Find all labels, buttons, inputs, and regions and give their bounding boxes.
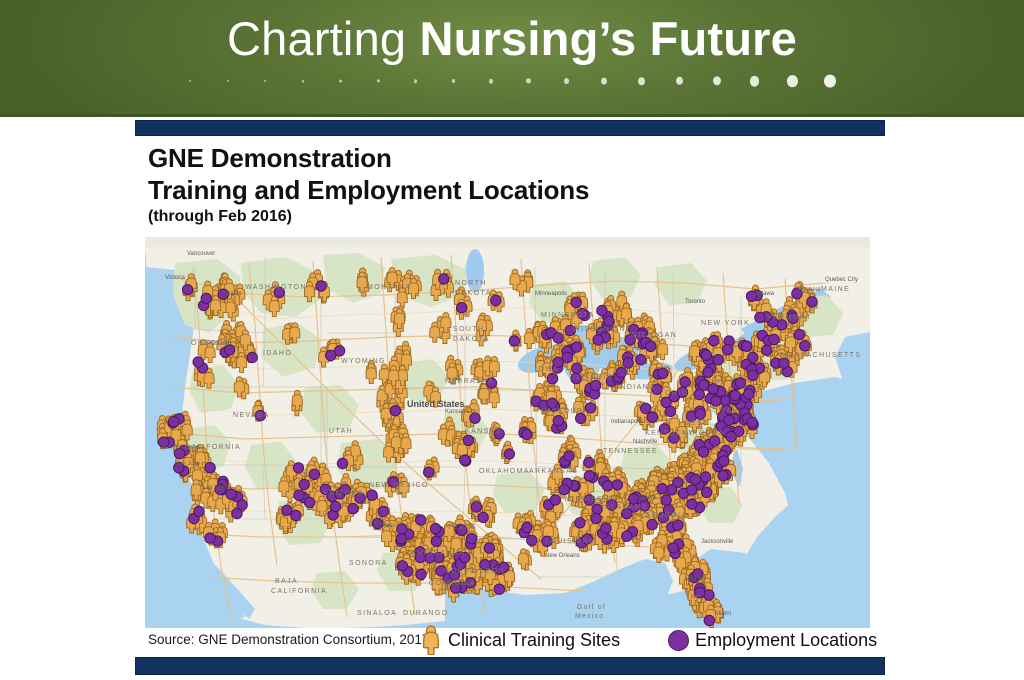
employment-location-marker[interactable] (690, 474, 700, 484)
slide-body: GNE Demonstration Training and Employmen… (0, 117, 1024, 680)
map-canvas: Vancouver Victoria Seattle Portland San … (145, 237, 870, 628)
svg-text:Montreal: Montreal (797, 287, 820, 293)
employment-location-marker[interactable] (205, 463, 215, 473)
svg-text:El Paso: El Paso (375, 523, 396, 529)
employment-location-marker[interactable] (553, 416, 563, 426)
svg-text:OHIO: OHIO (665, 390, 689, 397)
svg-text:New Orleans: New Orleans (545, 553, 580, 559)
employment-location-marker[interactable] (622, 531, 632, 541)
employment-location-marker[interactable] (718, 471, 728, 481)
svg-text:Nashville: Nashville (633, 439, 658, 445)
employment-location-marker[interactable] (182, 285, 192, 295)
employment-location-marker[interactable] (612, 480, 622, 490)
employment-location-marker[interactable] (348, 503, 358, 513)
employment-location-marker[interactable] (747, 417, 757, 427)
employment-location-marker[interactable] (673, 520, 683, 530)
svg-text:IOWA: IOWA (535, 366, 559, 373)
employment-location-marker[interactable] (494, 584, 504, 594)
employment-location-marker[interactable] (641, 403, 651, 413)
employment-location-marker[interactable] (169, 416, 179, 426)
employment-location-marker[interactable] (665, 406, 675, 416)
employment-location-marker[interactable] (466, 533, 476, 543)
employment-location-marker[interactable] (680, 377, 690, 387)
svg-text:KANSAS: KANSAS (465, 428, 502, 435)
employment-location-marker[interactable] (316, 281, 326, 291)
svg-text:GEORGIA: GEORGIA (645, 512, 687, 519)
banner-title-light: Charting (227, 12, 406, 65)
employment-location-marker[interactable] (564, 451, 574, 461)
employment-location-marker[interactable] (695, 409, 705, 419)
svg-text:NORTH: NORTH (455, 280, 487, 287)
employment-location-marker[interactable] (390, 406, 400, 416)
svg-text:VERMONT: VERMONT (767, 314, 812, 321)
source-note: Source: GNE Demonstration Consortium, 20… (148, 632, 429, 647)
employment-location-marker[interactable] (735, 378, 745, 388)
employment-location-marker[interactable] (416, 515, 426, 525)
employment-location-marker[interactable] (484, 543, 494, 553)
legend-item-clinical-training: Clinical Training Sites (420, 625, 620, 655)
employment-location-marker[interactable] (205, 533, 215, 543)
employment-location-marker[interactable] (201, 293, 211, 303)
employment-location-marker[interactable] (193, 357, 203, 367)
employment-location-marker[interactable] (527, 535, 537, 545)
employment-location-marker[interactable] (604, 316, 614, 326)
svg-text:MONTANA: MONTANA (367, 284, 411, 291)
employment-location-marker[interactable] (237, 500, 247, 510)
employment-location-marker[interactable] (304, 497, 314, 507)
svg-text:Minneapolis: Minneapolis (535, 291, 567, 297)
employment-location-marker[interactable] (584, 457, 594, 467)
employment-location-marker[interactable] (601, 523, 611, 533)
employment-location-marker[interactable] (647, 412, 657, 422)
svg-text:MASSACHUSETTS: MASSACHUSETTS (781, 352, 861, 359)
employment-location-marker[interactable] (711, 396, 721, 406)
employment-location-marker[interactable] (730, 390, 740, 400)
employment-location-marker[interactable] (713, 355, 723, 365)
svg-text:VIRGINIA: VIRGINIA (683, 430, 725, 437)
svg-text:Jacksonville: Jacksonville (701, 539, 734, 545)
svg-text:WASHINGTON: WASHINGTON (245, 284, 307, 291)
employment-location-marker[interactable] (547, 374, 557, 384)
svg-text:Gulf of: Gulf of (577, 604, 606, 611)
legend-label-employment: Employment Locations (695, 630, 877, 651)
employment-location-marker[interactable] (710, 436, 720, 446)
page-subtitle: (through Feb 2016) (148, 207, 292, 227)
svg-text:Quebec City: Quebec City (825, 277, 858, 283)
banner-title-bold: Nursing’s Future (420, 12, 797, 65)
employment-location-marker[interactable] (636, 355, 646, 365)
banner-title: Charting Nursing’s Future (0, 13, 1024, 65)
slide-top-rule (135, 120, 885, 136)
svg-text:Ottawa: Ottawa (755, 291, 775, 297)
employment-location-marker[interactable] (591, 513, 601, 523)
employment-location-marker[interactable] (562, 352, 572, 362)
svg-text:UTAH: UTAH (329, 428, 353, 435)
employment-location-marker[interactable] (330, 501, 340, 511)
employment-location-marker[interactable] (723, 344, 733, 354)
svg-text:TENNESSEE: TENNESSEE (603, 448, 658, 455)
svg-text:Vancouver: Vancouver (187, 251, 215, 257)
svg-text:CALIFORNIA: CALIFORNIA (271, 588, 327, 595)
svg-text:NEBRASKA: NEBRASKA (445, 378, 494, 385)
svg-text:Kansas City: Kansas City (445, 409, 477, 415)
employment-location-marker[interactable] (478, 512, 488, 522)
employment-location-marker[interactable] (658, 368, 668, 378)
employment-location-marker[interactable] (694, 389, 704, 399)
employment-location-marker[interactable] (396, 534, 406, 544)
employment-location-marker[interactable] (700, 472, 710, 482)
employment-location-marker[interactable] (647, 519, 657, 529)
employment-location-marker[interactable] (337, 458, 347, 468)
svg-text:LOUISIANA: LOUISIANA (545, 538, 595, 545)
employment-location-marker[interactable] (661, 495, 671, 505)
pegman-person-icon (420, 625, 442, 655)
employment-location-marker[interactable] (585, 403, 595, 413)
employment-location-marker[interactable] (616, 367, 626, 377)
svg-text:TEXAS: TEXAS (447, 524, 477, 531)
employment-location-marker[interactable] (719, 456, 729, 466)
employment-location-marker[interactable] (309, 469, 319, 479)
svg-text:ILLINOIS: ILLINOIS (573, 374, 613, 381)
svg-text:IDAHO: IDAHO (263, 350, 292, 357)
svg-text:San Jose: San Jose (175, 461, 201, 467)
employment-location-marker[interactable] (800, 341, 810, 351)
svg-text:Seattle: Seattle (223, 291, 242, 297)
employment-location-marker[interactable] (378, 506, 388, 516)
map-center-label: United States (407, 399, 465, 409)
svg-text:ARIZONA: ARIZONA (323, 490, 364, 497)
svg-text:MAINE: MAINE (821, 286, 850, 293)
employment-location-marker[interactable] (742, 341, 752, 351)
employment-location-marker[interactable] (698, 447, 708, 457)
svg-text:The: The (685, 594, 701, 601)
employment-location-marker[interactable] (769, 334, 779, 344)
svg-text:DAKOTA: DAKOTA (455, 290, 492, 297)
employment-location-marker[interactable] (294, 490, 304, 500)
employment-location-marker[interactable] (491, 295, 501, 305)
employment-location-marker[interactable] (687, 485, 697, 495)
svg-text:VA: VA (721, 408, 733, 415)
svg-text:OREGON: OREGON (191, 340, 231, 347)
employment-location-marker[interactable] (547, 398, 557, 408)
svg-text:ARKANSAS: ARKANSAS (529, 468, 578, 475)
svg-text:OKLAHOMA: OKLAHOMA (479, 468, 530, 475)
svg-text:Toronto: Toronto (685, 299, 706, 305)
employment-location-marker[interactable] (194, 506, 204, 516)
svg-text:Las Vegas: Las Vegas (203, 485, 231, 491)
employment-location-marker[interactable] (424, 467, 434, 477)
employment-location-marker[interactable] (431, 536, 441, 546)
svg-text:WISCONSIN: WISCONSIN (573, 326, 626, 333)
slide-bottom-rule (135, 657, 885, 675)
svg-text:SINALOA: SINALOA (357, 610, 397, 617)
employment-location-marker[interactable] (509, 336, 519, 346)
svg-text:ALABAMA: ALABAMA (605, 504, 648, 511)
employment-location-marker[interactable] (779, 358, 789, 368)
svg-text:COAHUILA: COAHUILA (429, 580, 476, 587)
us-locations-map[interactable]: Vancouver Victoria Seattle Portland San … (145, 237, 870, 628)
employment-location-marker[interactable] (575, 518, 585, 528)
employment-location-marker[interactable] (247, 352, 257, 362)
svg-text:MISSISSIPPI: MISSISSIPPI (565, 496, 622, 503)
site-banner: Charting Nursing’s Future (0, 0, 1024, 117)
svg-text:Atlanta: Atlanta (637, 495, 656, 501)
svg-text:INDIANA: INDIANA (617, 384, 655, 391)
svg-text:PA: PA (715, 380, 727, 387)
employment-location-marker[interactable] (522, 522, 532, 532)
svg-text:SOUTH: SOUTH (453, 326, 485, 333)
employment-location-marker[interactable] (762, 345, 772, 355)
employment-location-marker[interactable] (602, 481, 612, 491)
employment-location-marker[interactable] (591, 380, 601, 390)
svg-text:BAJA: BAJA (275, 578, 298, 585)
employment-location-marker[interactable] (293, 463, 303, 473)
employment-location-marker[interactable] (416, 569, 426, 579)
svg-text:NEW MEXICO: NEW MEXICO (369, 482, 429, 489)
employment-location-marker[interactable] (572, 363, 582, 373)
employment-location-marker[interactable] (597, 305, 607, 315)
svg-text:SONORA: SONORA (349, 560, 388, 567)
svg-text:Miami: Miami (715, 611, 731, 617)
employment-location-marker[interactable] (666, 485, 676, 495)
employment-location-marker[interactable] (522, 429, 532, 439)
employment-location-marker[interactable] (463, 435, 473, 445)
employment-location-marker[interactable] (623, 358, 633, 368)
svg-text:NUEVO LEON: NUEVO LEON (445, 568, 505, 575)
employment-location-marker[interactable] (460, 455, 470, 465)
svg-text:WEST: WEST (683, 420, 709, 427)
employment-location-marker[interactable] (593, 335, 603, 345)
legend-label-clinical-training: Clinical Training Sites (448, 630, 620, 651)
svg-text:MISSOURI: MISSOURI (541, 408, 587, 415)
svg-text:DURANGO: DURANGO (403, 610, 449, 617)
employment-location-marker[interactable] (457, 303, 467, 313)
employment-location-marker[interactable] (794, 329, 804, 339)
employment-location-marker[interactable] (807, 297, 817, 307)
employment-location-marker[interactable] (726, 432, 736, 442)
employment-location-marker[interactable] (334, 346, 344, 356)
employment-location-marker[interactable] (439, 274, 449, 284)
employment-location-marker[interactable] (471, 502, 481, 512)
svg-text:Victoria: Victoria (165, 275, 186, 281)
employment-location-marker[interactable] (282, 505, 292, 515)
employment-location-marker[interactable] (657, 484, 667, 494)
svg-text:CALIFORNIA: CALIFORNIA (185, 444, 241, 451)
employment-location-marker[interactable] (571, 297, 581, 307)
employment-location-marker[interactable] (397, 524, 407, 534)
map-legend: Clinical Training Sites Employment Locat… (420, 625, 877, 655)
employment-location-marker[interactable] (709, 336, 719, 346)
employment-location-marker[interactable] (367, 490, 377, 500)
employment-location-marker[interactable] (702, 487, 712, 497)
employment-location-marker[interactable] (430, 523, 440, 533)
employment-location-marker[interactable] (504, 449, 514, 459)
svg-text:CHIHUAHUA: CHIHUAHUA (411, 550, 465, 557)
page-title: GNE Demonstration Training and Employmen… (148, 142, 868, 206)
page-title-line1: GNE Demonstration (148, 143, 392, 173)
svg-text:MINNESOTA: MINNESOTA (541, 312, 595, 319)
svg-text:Orlando: Orlando (685, 575, 707, 581)
employment-location-marker[interactable] (744, 389, 754, 399)
svg-text:NEW YORK: NEW YORK (701, 320, 750, 327)
banner-dot-row (190, 70, 830, 92)
svg-text:WYOMING: WYOMING (341, 358, 386, 365)
employment-location-marker[interactable] (687, 499, 697, 509)
employment-location-marker[interactable] (703, 367, 713, 377)
svg-text:NEVADA: NEVADA (233, 412, 270, 419)
employment-location-marker[interactable] (748, 370, 758, 380)
svg-text:MICHIGAN: MICHIGAN (631, 332, 677, 339)
svg-text:DAKOTA: DAKOTA (453, 336, 490, 343)
employment-location-marker[interactable] (550, 495, 560, 505)
employment-location-marker[interactable] (584, 471, 594, 481)
employment-location-marker[interactable] (397, 561, 407, 571)
employment-location-marker[interactable] (553, 333, 563, 343)
employment-location-marker[interactable] (571, 342, 581, 352)
purple-circle-icon (668, 630, 689, 651)
svg-text:Mexico: Mexico (575, 613, 604, 620)
legend-item-employment: Employment Locations (668, 630, 877, 651)
employment-location-marker[interactable] (668, 543, 678, 553)
employment-location-marker[interactable] (646, 341, 656, 351)
page-title-line2: Training and Employment Locations (148, 174, 868, 206)
employment-location-marker[interactable] (755, 312, 765, 322)
employment-location-marker[interactable] (299, 479, 309, 489)
svg-text:Indianapolis: Indianapolis (611, 419, 643, 425)
employment-location-marker[interactable] (559, 484, 569, 494)
employment-location-marker[interactable] (701, 350, 711, 360)
